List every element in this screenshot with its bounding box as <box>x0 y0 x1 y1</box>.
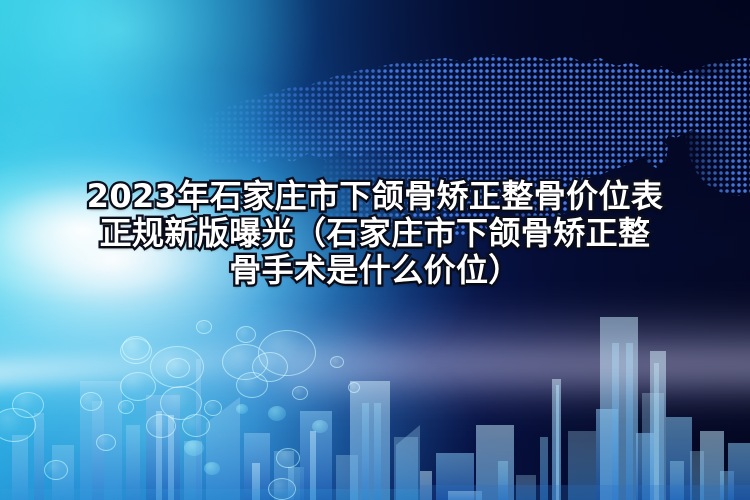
bubble <box>12 392 44 418</box>
bubble <box>184 440 204 456</box>
bubble <box>236 326 256 343</box>
bubble <box>236 404 248 414</box>
bubble <box>204 400 222 416</box>
bubble <box>268 406 286 421</box>
page-title: 2023年石家庄市下颌骨矫正整骨价位表正规新版曝光（石家庄市下颌骨矫正整骨手术是… <box>86 178 664 289</box>
bubble <box>80 392 102 411</box>
bubble <box>268 478 296 500</box>
bubble <box>96 434 116 451</box>
bubble <box>118 400 134 414</box>
bubble <box>276 448 300 468</box>
promo-banner: 2023年石家庄市下颌骨矫正整骨价位表正规新版曝光（石家庄市下颌骨矫正整骨手术是… <box>0 0 750 500</box>
bubble <box>150 346 204 388</box>
bubble <box>312 420 328 433</box>
bubble <box>146 414 176 438</box>
bubble <box>204 462 220 475</box>
bubble <box>196 320 212 334</box>
bubble <box>292 386 308 400</box>
bubble <box>120 338 152 364</box>
bubble <box>252 352 288 382</box>
bubble <box>44 460 68 480</box>
bubble <box>348 382 360 393</box>
bubble <box>120 372 156 401</box>
title-block: 2023年石家庄市下颌骨矫正整骨价位表正规新版曝光（石家庄市下颌骨矫正整骨手术是… <box>0 178 750 289</box>
bubble <box>182 414 210 437</box>
bubble <box>330 356 344 368</box>
